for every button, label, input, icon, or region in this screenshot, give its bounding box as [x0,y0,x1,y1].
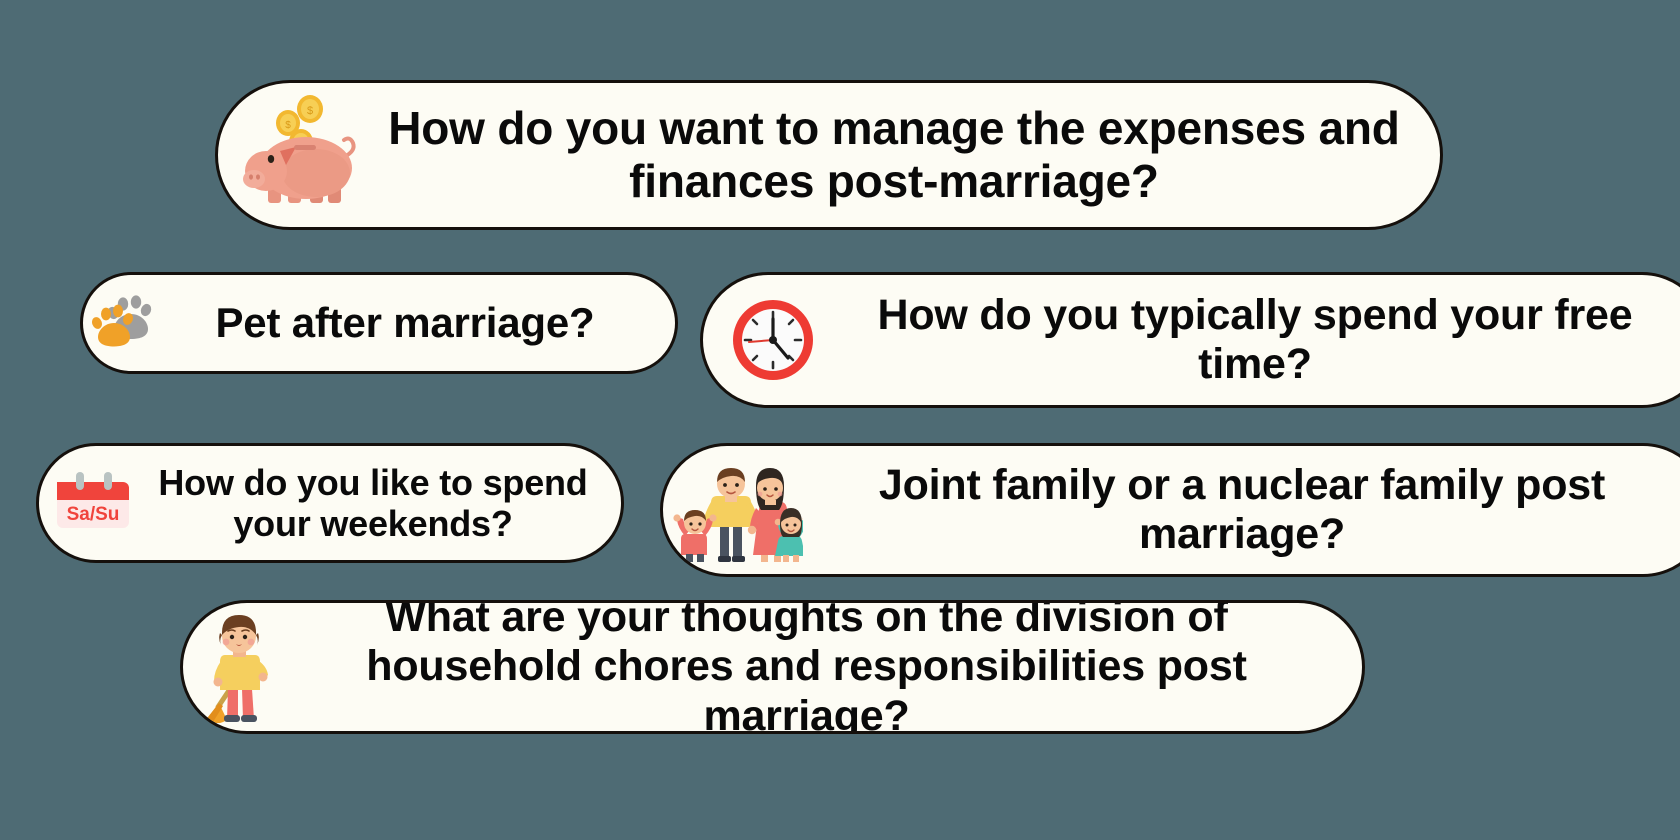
question-text: Pet after marriage? [165,299,675,347]
question-card-family[interactable]: Joint family or a nuclear family post ma… [660,443,1680,577]
svg-text:$: $ [307,105,313,117]
calendar-weekend-icon: Sa/Su [39,461,149,545]
question-card-weekend[interactable]: Sa/Su How do you like to spend your week… [36,443,624,563]
calendar-label: Sa/Su [67,504,120,525]
alarm-clock-icon [703,285,843,395]
poster-canvas: $ $ $ [0,0,1680,840]
question-text: How do you want to manage the expenses a… [388,102,1440,208]
question-card-finances[interactable]: $ $ $ [215,80,1443,230]
svg-text:$: $ [285,120,291,131]
question-text: How do you typically spend your free tim… [843,291,1680,390]
child-sweeping-icon [183,608,293,726]
piggy-bank-icon: $ $ $ [218,95,388,215]
question-card-chores[interactable]: What are your thoughts on the division o… [180,600,1365,734]
question-card-freetime[interactable]: How do you typically spend your free tim… [700,272,1680,408]
question-text: What are your thoughts on the division o… [293,600,1362,734]
family-icon [663,452,813,568]
question-card-pet[interactable]: Pet after marriage? [80,272,678,374]
paw-prints-icon [83,286,165,360]
question-text: Joint family or a nuclear family post ma… [813,461,1680,560]
question-text: How do you like to spend your weekends? [149,462,621,545]
